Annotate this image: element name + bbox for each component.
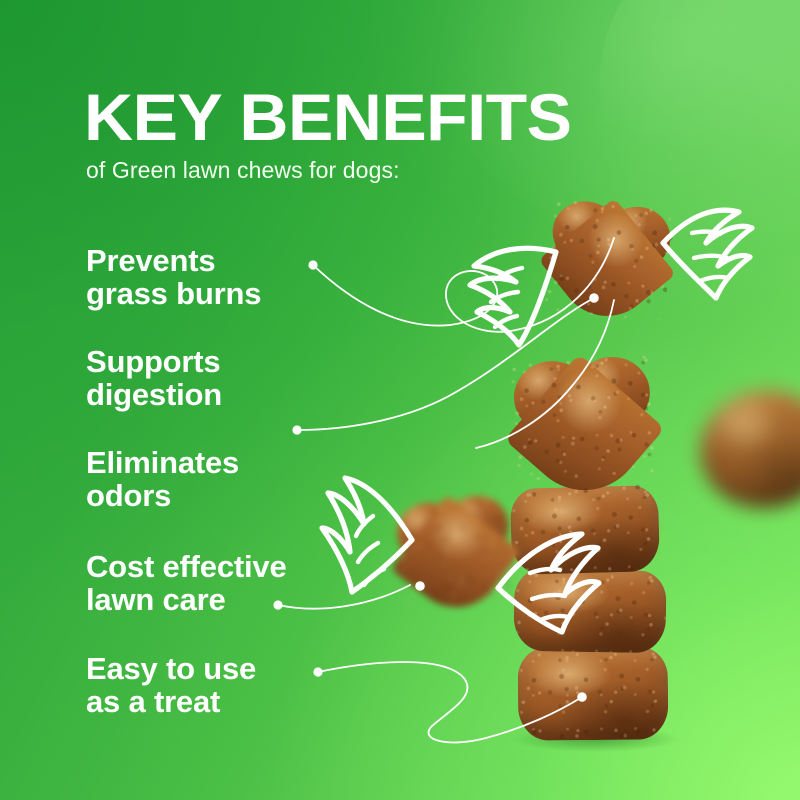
kibble-heart-left-flying (391, 489, 521, 614)
key-benefits-poster: KEY BENEFITS of Green lawn chews for dog… (0, 0, 800, 800)
wing-top-right-icon (663, 210, 752, 298)
page-subtitle: of Green lawn chews for dogs: (86, 157, 400, 184)
leader-line-supports-digestion (292, 293, 598, 434)
benefit-item-cost-effective: Cost effective lawn care (86, 550, 287, 617)
kibble-heart-face-on (508, 350, 659, 500)
background-swoosh-watermark (580, 0, 800, 257)
leader-line-easy-to-use (313, 662, 586, 742)
benefit-item-supports-digestion: Supports digestion (86, 345, 222, 412)
background-arc-watermark (360, 0, 800, 310)
leader-dot-easy-to-use (313, 667, 322, 676)
leader-dot-prevents (308, 260, 317, 269)
benefit-item-easy-to-use: Easy to use as a treat (86, 652, 256, 719)
background-leaf-watermark (386, 0, 800, 317)
leader-dot-top-kibble (589, 293, 599, 303)
stack-ground-shadow (512, 726, 680, 752)
wing-top-left-icon (470, 248, 556, 345)
leader-dot-bottom-kibble (577, 692, 587, 702)
benefit-item-eliminates-odors: Eliminates odors (86, 446, 239, 513)
leader-line-prevents-grass-burns (308, 238, 614, 332)
wing-mid-left-icon (322, 478, 412, 592)
leader-line-cost-effective (273, 581, 424, 609)
kibble-heart-top-flying (542, 194, 676, 324)
leader-line-eliminates-odors (476, 300, 614, 448)
benefit-item-prevents-grass-burns: Prevents grass burns (86, 244, 261, 311)
kibble-stack-upper (510, 485, 660, 575)
background-blurred-kibble (700, 390, 800, 508)
kibble-stack-bottom (518, 647, 669, 740)
kibble-stack-middle (513, 569, 666, 654)
leader-dot-supports (292, 425, 301, 434)
leader-dot-flying-kibble (415, 581, 425, 591)
page-title: KEY BENEFITS (84, 84, 571, 150)
wing-stack-right-icon (498, 534, 599, 632)
